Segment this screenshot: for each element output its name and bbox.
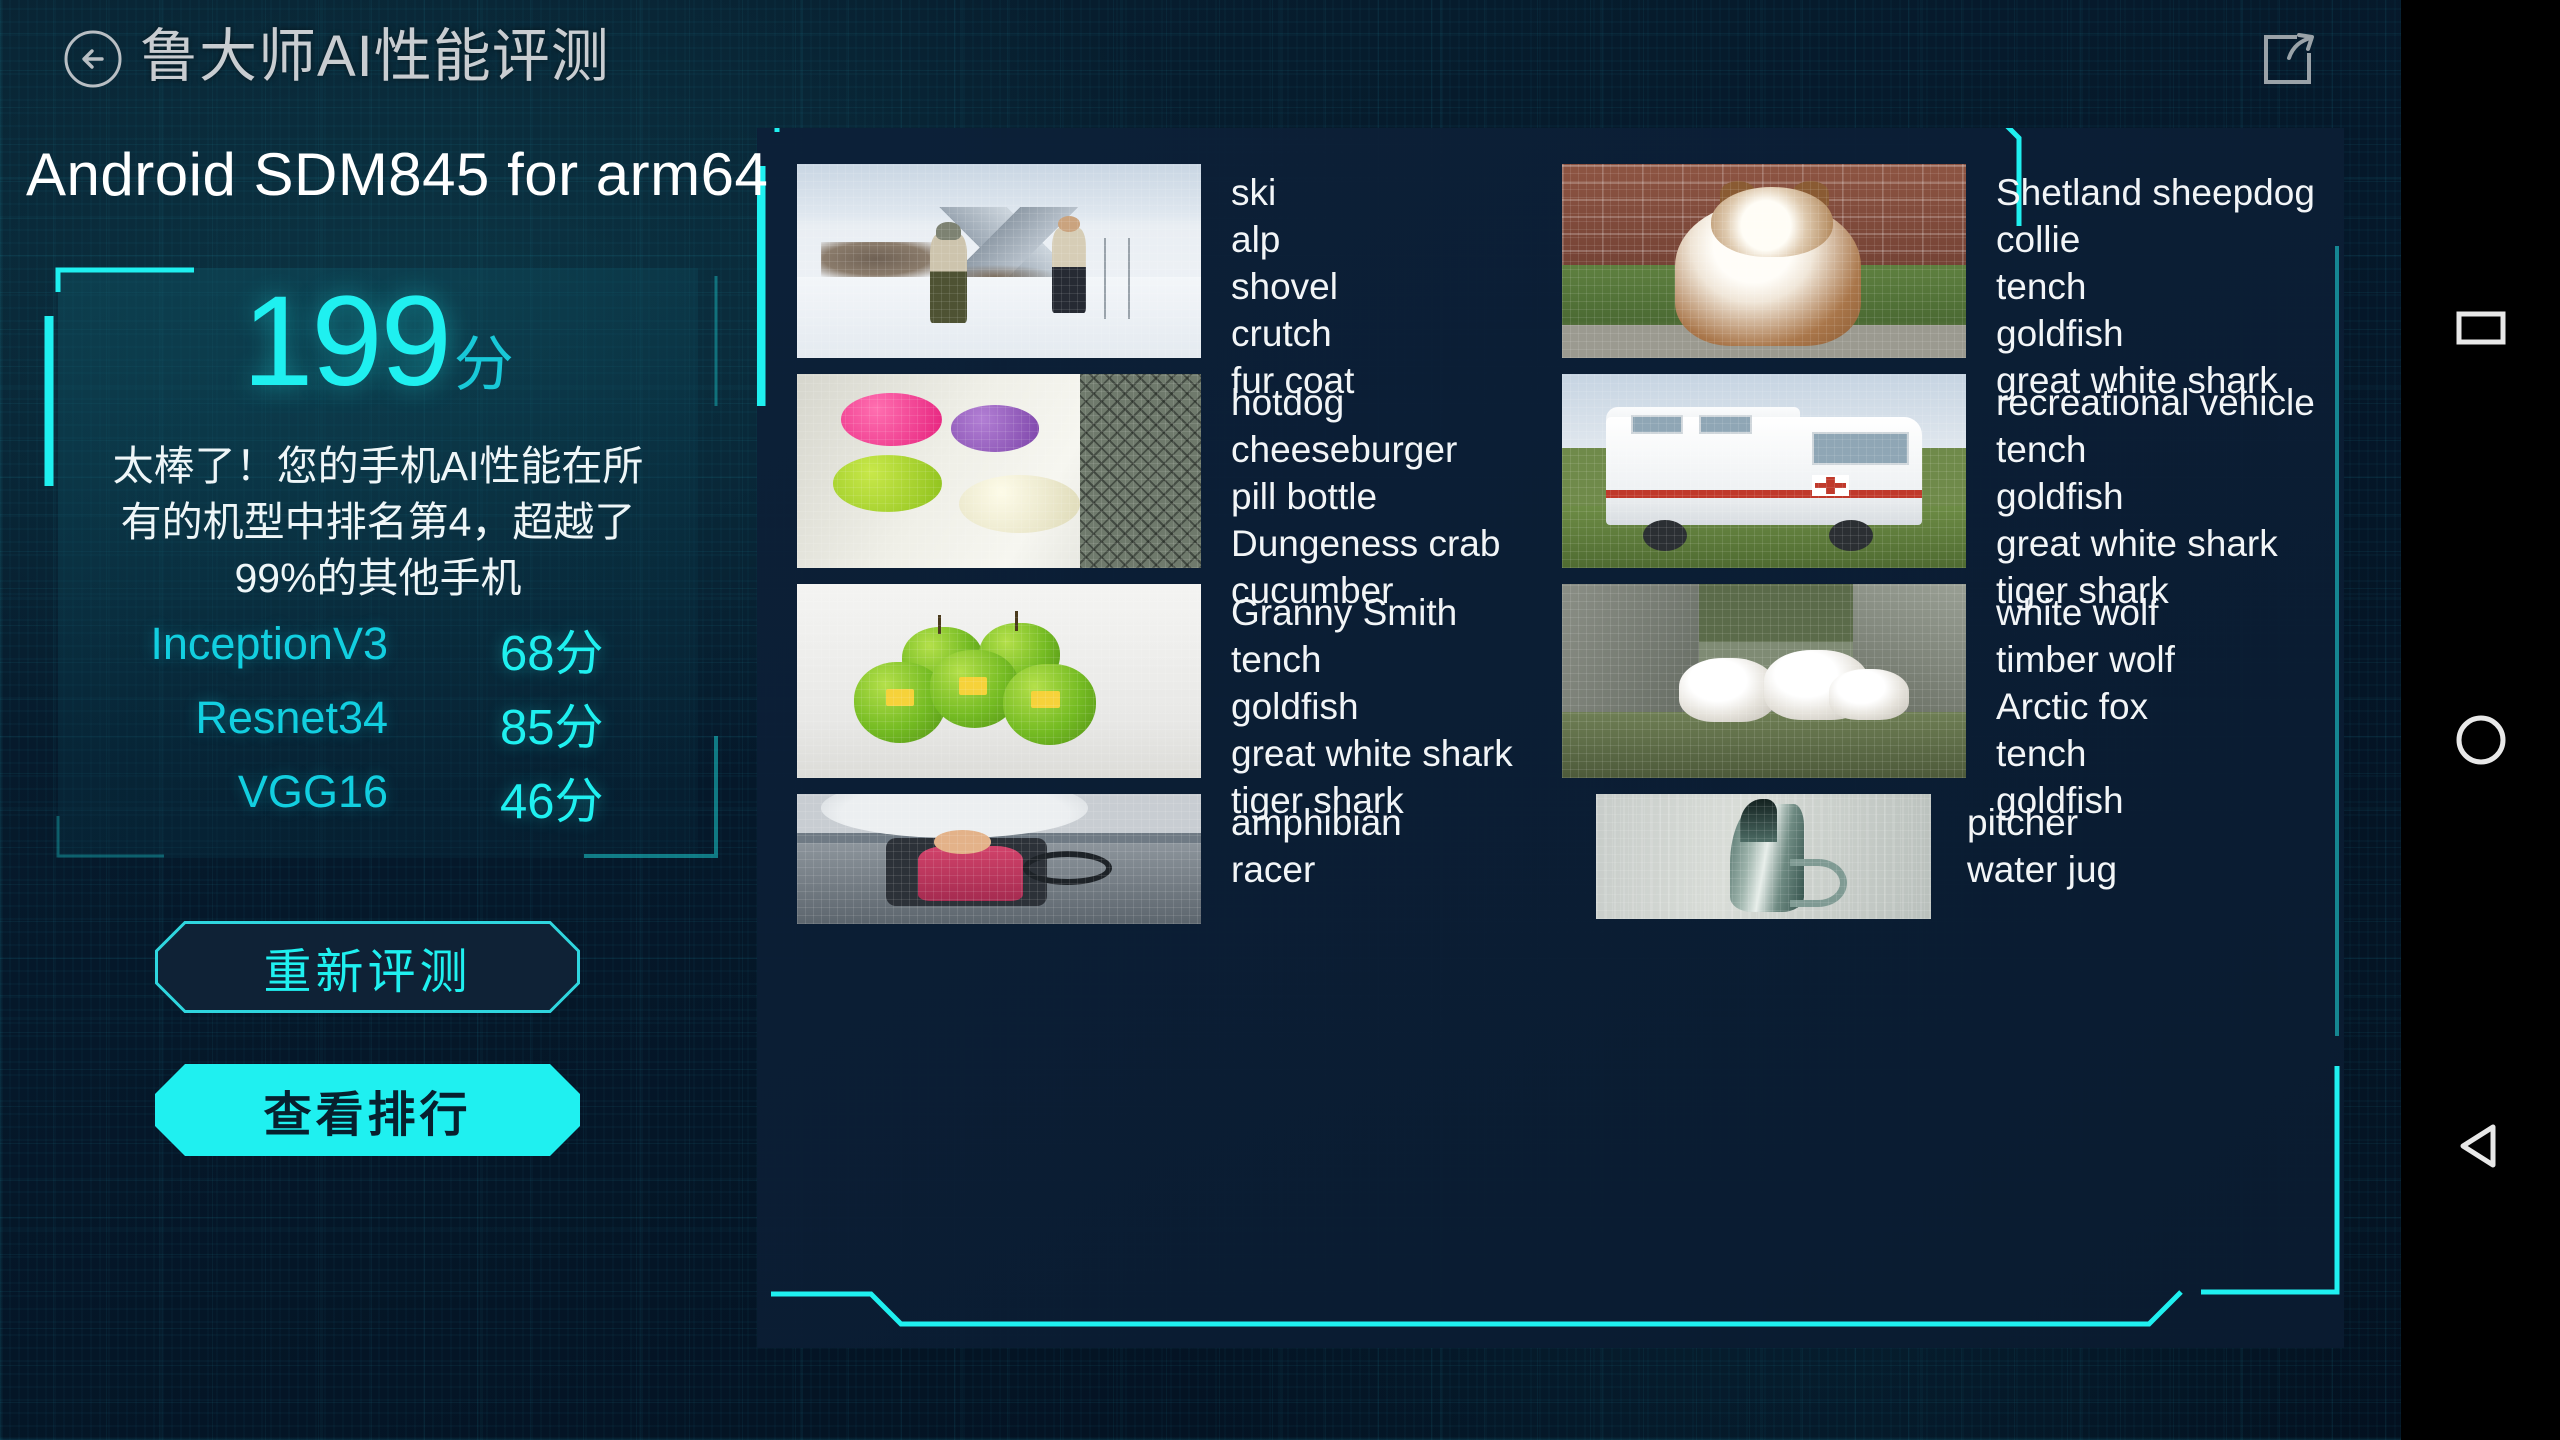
result-label: tench	[1996, 427, 2315, 473]
result-labels: hotdog cheeseburger pill bottle Dungenes…	[1201, 374, 1500, 615]
recognition-results-panel: ski alp shovel crutch fur coat	[757, 128, 2344, 1348]
metric-row: Resnet34 85分	[58, 692, 698, 766]
result-label: tench	[1996, 264, 2315, 310]
app-surface: 鲁大师AI性能评测 Android SDM845 for arm64	[0, 0, 2401, 1440]
result-item[interactable]: ski alp shovel crutch fur coat	[797, 164, 1562, 374]
result-thumbnail	[1562, 164, 1966, 358]
result-item[interactable]: amphibian racer	[797, 794, 1562, 944]
metric-row: VGG16 46分	[58, 766, 698, 840]
result-item[interactable]: white wolf timber wolf Arctic fox tench …	[1562, 584, 2327, 794]
app-header: 鲁大师AI性能评测	[0, 0, 2401, 118]
result-item[interactable]: pitcher water jug	[1562, 794, 2327, 944]
result-label: ski	[1231, 170, 1354, 216]
result-label: white wolf	[1996, 590, 2175, 636]
result-label: goldfish	[1996, 474, 2315, 520]
total-score: 199分	[58, 278, 698, 406]
triangle-back-icon[interactable]	[2453, 1118, 2509, 1174]
metric-value: 68分	[500, 614, 604, 685]
result-thumbnail	[797, 794, 1201, 924]
retest-button[interactable]: 重新评测	[155, 921, 580, 1013]
result-item[interactable]: Granny Smith tench goldfish great white …	[797, 584, 1562, 794]
result-label: alp	[1231, 217, 1354, 263]
result-label: collie	[1996, 217, 2315, 263]
total-score-value: 199	[242, 270, 450, 413]
circle-arrow-left-icon[interactable]	[62, 28, 124, 90]
result-label: great white shark	[1996, 521, 2315, 567]
metric-value: 46分	[500, 762, 604, 833]
result-labels: white wolf timber wolf Arctic fox tench …	[1966, 584, 2175, 825]
result-item[interactable]: Shetland sheepdog collie tench goldfish …	[1562, 164, 2327, 374]
share-external-icon[interactable]	[2251, 22, 2323, 94]
result-label: pill bottle	[1231, 474, 1500, 520]
result-thumbnail	[1596, 794, 1931, 919]
result-label: shovel	[1231, 264, 1354, 310]
result-label: recreational vehicle	[1996, 380, 2315, 426]
result-labels: amphibian racer	[1201, 794, 1402, 894]
circle-home-icon[interactable]	[2453, 712, 2509, 768]
result-label: tench	[1231, 637, 1513, 683]
result-item[interactable]: recreational vehicle tench goldfish grea…	[1562, 374, 2327, 584]
result-item[interactable]: hotdog cheeseburger pill bottle Dungenes…	[797, 374, 1562, 584]
score-panel: 199分 太棒了！您的手机AI性能在所有的机型中排名第4，超越了99%的其他手机…	[58, 268, 698, 858]
result-labels: ski alp shovel crutch fur coat	[1201, 164, 1354, 405]
result-label: timber wolf	[1996, 637, 2175, 683]
result-label: goldfish	[1996, 311, 2315, 357]
result-labels: Granny Smith tench goldfish great white …	[1201, 584, 1513, 825]
result-label: crutch	[1231, 311, 1354, 357]
result-label: Shetland sheepdog	[1996, 170, 2315, 216]
result-label: amphibian	[1231, 800, 1402, 846]
result-thumbnail	[1562, 374, 1966, 568]
result-label: pitcher	[1967, 800, 2117, 846]
result-thumbnail	[797, 164, 1201, 358]
results-grid: ski alp shovel crutch fur coat	[797, 164, 2327, 944]
device-name: Android SDM845 for arm64	[26, 140, 768, 209]
view-ranking-button[interactable]: 查看排行	[155, 1064, 580, 1156]
result-labels: pitcher water jug	[1931, 794, 2117, 894]
result-labels: recreational vehicle tench goldfish grea…	[1966, 374, 2315, 615]
result-labels: Shetland sheepdog collie tench goldfish …	[1966, 164, 2315, 405]
metric-name: InceptionV3	[150, 618, 388, 670]
result-thumbnail	[1562, 584, 1966, 778]
result-label: tench	[1996, 731, 2175, 777]
metric-value: 85分	[500, 688, 604, 759]
result-label: goldfish	[1231, 684, 1513, 730]
result-thumbnail	[797, 374, 1201, 568]
metrics-list: InceptionV3 68分 Resnet34 85分 VGG16 46分	[58, 618, 698, 840]
score-description: 太棒了！您的手机AI性能在所有的机型中排名第4，超越了99%的其他手机	[112, 438, 644, 606]
metric-name: VGG16	[238, 766, 388, 818]
result-label: Arctic fox	[1996, 684, 2175, 730]
metric-name: Resnet34	[195, 692, 388, 744]
result-label: Dungeness crab	[1231, 521, 1500, 567]
result-label: water jug	[1967, 847, 2117, 893]
result-label: racer	[1231, 847, 1402, 893]
result-label: great white shark	[1231, 731, 1513, 777]
metric-row: InceptionV3 68分	[58, 618, 698, 692]
result-thumbnail	[797, 584, 1201, 778]
screen-root: 鲁大师AI性能评测 Android SDM845 for arm64	[0, 0, 2560, 1440]
page-title: 鲁大师AI性能评测	[140, 20, 610, 94]
total-score-unit: 分	[454, 331, 514, 398]
result-label: hotdog	[1231, 380, 1500, 426]
result-label: cheeseburger	[1231, 427, 1500, 473]
square-recents-icon[interactable]	[2455, 302, 2507, 354]
android-navigation-bar	[2401, 0, 2560, 1440]
result-label: Granny Smith	[1231, 590, 1513, 636]
